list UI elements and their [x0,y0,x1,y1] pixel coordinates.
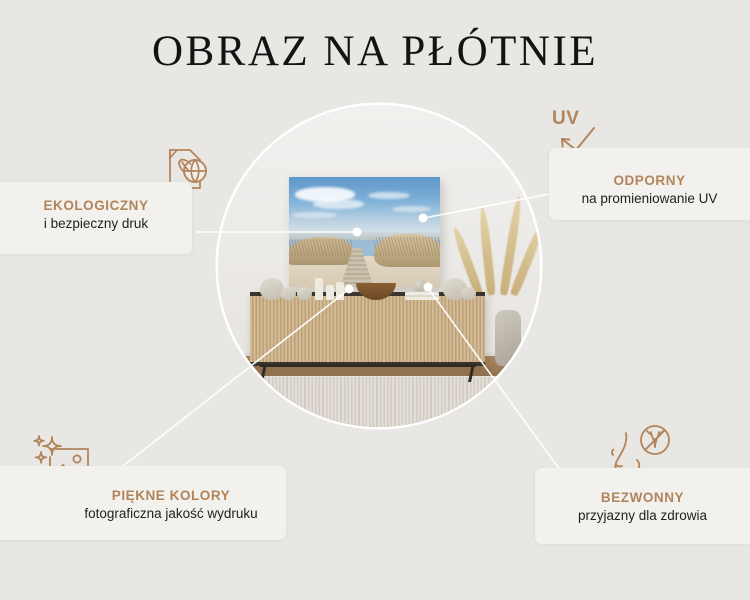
feature-subtitle: i bezpieczny druk [0,215,192,233]
feature-subtitle: na promieniowanie UV [549,190,750,208]
sideboard-leg-bar [260,364,476,367]
pampas-frond [478,207,496,295]
artwork-cloud [292,212,337,217]
rug [218,376,540,427]
feature-card-ekologiczny[interactable]: EKOLOGICZNY i bezpieczny druk [0,182,192,254]
decor-candle [336,282,344,300]
decor-books [405,292,439,300]
product-scene-circle [218,105,540,427]
decor-bowl [281,287,296,300]
feature-card-odporny[interactable]: ODPORNY na promieniowanie UV [549,148,750,220]
feature-subtitle: fotograficzna jakość wydruku [56,505,286,523]
infographic-poster: OBRAZ NA PŁÓTNIE [0,0,750,600]
feature-heading: ODPORNY [549,173,750,190]
feature-card-piekne-kolory[interactable]: PIĘKNE KOLORY fotograficzna jakość wydru… [0,466,286,540]
pampas-grass [457,175,527,295]
feature-card-bezwonny[interactable]: BEZWONNY przyjazny dla zdrowia [535,468,750,544]
page-title: OBRAZ NA PŁÓTNIE [0,28,750,75]
sideboard-legs [250,364,485,382]
feature-heading: EKOLOGICZNY [0,198,192,215]
canvas-print-artwork [289,177,440,286]
decor-bowl [297,287,312,300]
floor-vase [495,310,521,366]
decor-vase [260,278,284,300]
artwork-dune-grass [289,239,353,257]
feature-heading: PIĘKNE KOLORY [56,488,286,505]
decor-vase [461,287,476,300]
decor-candle [315,278,323,300]
artwork-dune-grass [374,237,441,257]
feature-subtitle: przyjazny dla zdrowia [535,507,750,525]
feature-heading: BEZWONNY [535,490,750,507]
decor-candle [326,285,334,300]
sideboard [250,292,485,366]
decor-stone-ball [413,279,426,292]
living-room-scene [218,105,540,427]
